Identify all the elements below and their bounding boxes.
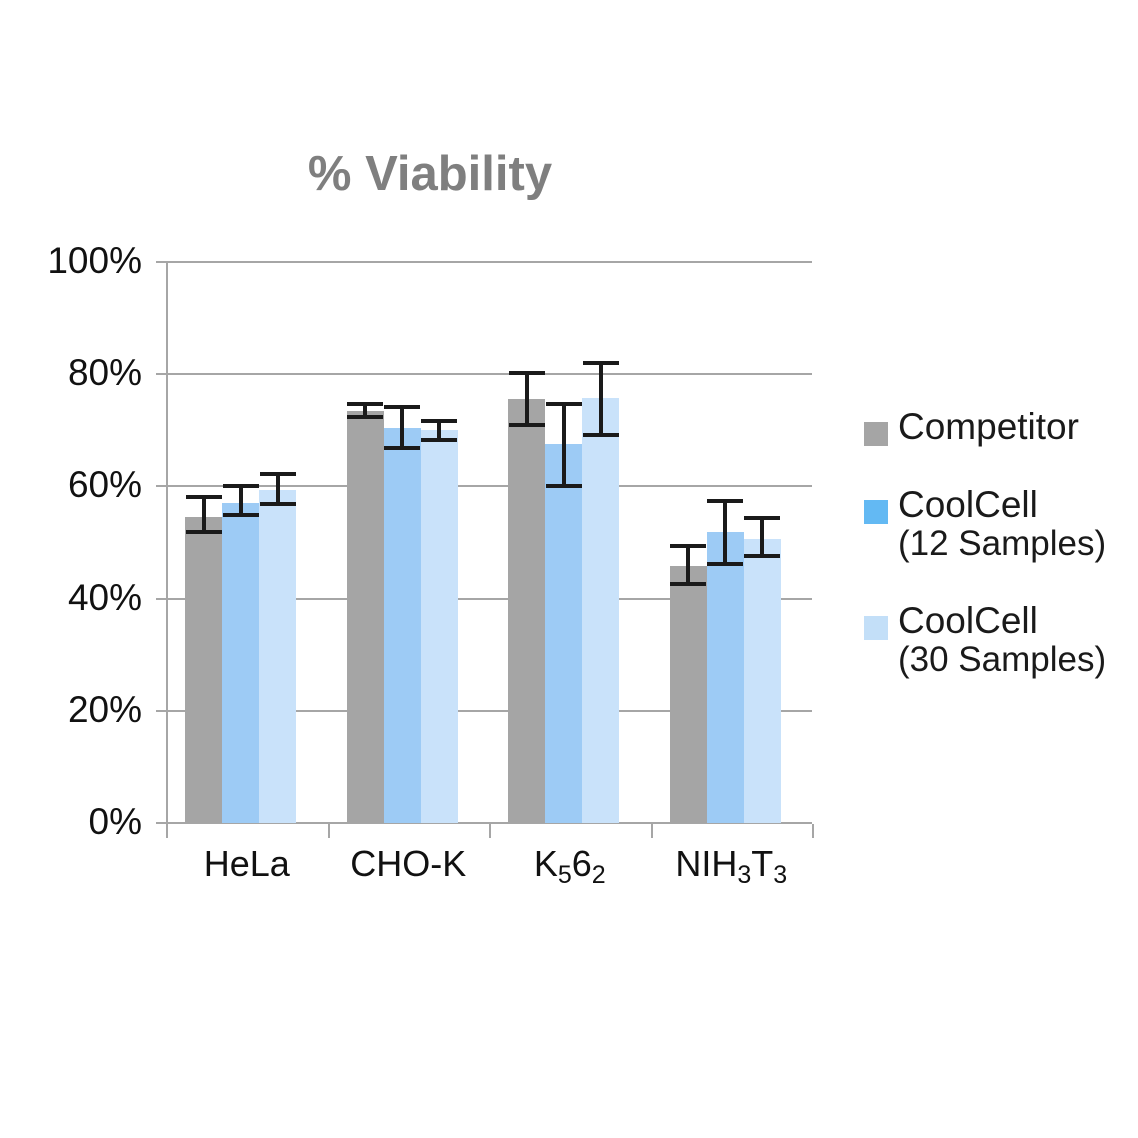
error-bar — [546, 402, 582, 488]
legend-label: CoolCell — [898, 602, 1138, 640]
y-axis-tick — [156, 261, 166, 263]
bar[interactable] — [707, 532, 744, 823]
y-axis-tick-label: 60% — [22, 466, 142, 503]
y-axis-tick — [156, 710, 166, 712]
legend-label: Competitor — [898, 408, 1138, 446]
bar[interactable] — [347, 411, 384, 823]
error-bar — [384, 405, 420, 450]
error-bar-cap-lower — [421, 438, 457, 442]
error-bar-stem — [276, 472, 280, 506]
x-axis-tick-label: HeLa — [166, 846, 328, 882]
plot-area — [166, 262, 812, 823]
error-bar — [744, 516, 780, 558]
error-bar-cap-lower — [744, 554, 780, 558]
bar-group — [489, 262, 651, 823]
error-bar — [707, 499, 743, 566]
error-bar-cap-lower — [384, 446, 420, 450]
y-axis-tick-label: 80% — [22, 354, 142, 391]
error-bar-cap-lower — [260, 502, 296, 506]
error-bar-cap-upper — [707, 499, 743, 503]
y-axis-tick — [156, 822, 166, 824]
error-bar-stem — [599, 361, 603, 437]
x-axis-tick-label: CHO-K — [328, 846, 490, 882]
bar-group — [328, 262, 490, 823]
error-bar-cap-lower — [707, 562, 743, 566]
bar[interactable] — [582, 398, 619, 823]
error-bar-cap-lower — [509, 423, 545, 427]
chart-canvas: % Viability 0%20%40%60%80%100% HeLaCHO-K… — [0, 0, 1138, 1138]
x-axis-tick — [166, 824, 168, 838]
error-bar-cap-upper — [186, 495, 222, 499]
x-axis-tick — [812, 824, 814, 838]
x-axis-tick — [651, 824, 653, 838]
legend-item-competitor[interactable]: Competitor — [864, 408, 1138, 446]
error-bar — [186, 495, 222, 534]
error-bar — [421, 419, 457, 441]
error-bar — [670, 544, 706, 586]
error-bar-cap-upper — [384, 405, 420, 409]
legend-sublabel: (12 Samples) — [898, 525, 1138, 562]
y-axis-tick — [156, 485, 166, 487]
bar[interactable] — [259, 490, 296, 823]
error-bar-cap-upper — [223, 484, 259, 488]
error-bar-stem — [562, 402, 566, 488]
x-axis-tick — [328, 824, 330, 838]
error-bar-stem — [686, 544, 690, 586]
y-axis-tick-label: 100% — [22, 242, 142, 279]
error-bar-cap-lower — [186, 530, 222, 534]
legend: Competitor CoolCell (12 Samples) CoolCel… — [864, 408, 1138, 718]
bar[interactable] — [222, 503, 259, 823]
chart-title: % Viability — [0, 150, 860, 199]
blue-swatch-icon — [864, 500, 888, 524]
y-axis-tick — [156, 598, 166, 600]
error-bar-cap-upper — [421, 419, 457, 423]
legend-sublabel: (30 Samples) — [898, 641, 1138, 678]
error-bar-cap-upper — [347, 402, 383, 406]
bar[interactable] — [508, 399, 545, 823]
error-bar-stem — [400, 405, 404, 450]
error-bar-cap-upper — [583, 361, 619, 365]
error-bar-stem — [202, 495, 206, 534]
error-bar-stem — [760, 516, 764, 558]
error-bar-cap-upper — [509, 371, 545, 375]
error-bar — [260, 472, 296, 506]
y-axis-tick — [156, 373, 166, 375]
bar-group — [651, 262, 813, 823]
legend-item-coolcell-30[interactable]: CoolCell (30 Samples) — [864, 602, 1138, 678]
x-axis-tick-label: NIH3T3 — [651, 846, 813, 882]
gray-swatch-icon — [864, 422, 888, 446]
error-bar-stem — [239, 484, 243, 518]
bar[interactable] — [185, 517, 222, 823]
legend-item-coolcell-12[interactable]: CoolCell (12 Samples) — [864, 486, 1138, 562]
error-bar-cap-lower — [546, 484, 582, 488]
error-bar-cap-lower — [347, 415, 383, 419]
y-axis-tick-label: 40% — [22, 579, 142, 616]
error-bar — [347, 402, 383, 419]
error-bar — [583, 361, 619, 437]
light-blue-swatch-icon — [864, 616, 888, 640]
bar[interactable] — [744, 539, 781, 823]
error-bar-stem — [723, 499, 727, 566]
y-axis-tick-label: 20% — [22, 691, 142, 728]
error-bar — [509, 371, 545, 427]
legend-label: CoolCell — [898, 486, 1138, 524]
bar[interactable] — [670, 566, 707, 823]
error-bar-cap-upper — [546, 402, 582, 406]
error-bar-stem — [525, 371, 529, 427]
error-bar-cap-upper — [744, 516, 780, 520]
bar[interactable] — [384, 428, 421, 824]
bar-group — [166, 262, 328, 823]
y-axis-tick-label: 0% — [22, 803, 142, 840]
error-bar-cap-lower — [670, 582, 706, 586]
error-bar-cap-upper — [670, 544, 706, 548]
error-bar-cap-upper — [260, 472, 296, 476]
error-bar-cap-lower — [223, 513, 259, 517]
x-axis-tick — [489, 824, 491, 838]
x-axis-tick-label: K562 — [489, 846, 651, 882]
bar[interactable] — [421, 430, 458, 823]
bar[interactable] — [545, 444, 582, 823]
error-bar-cap-lower — [583, 433, 619, 437]
error-bar — [223, 484, 259, 518]
